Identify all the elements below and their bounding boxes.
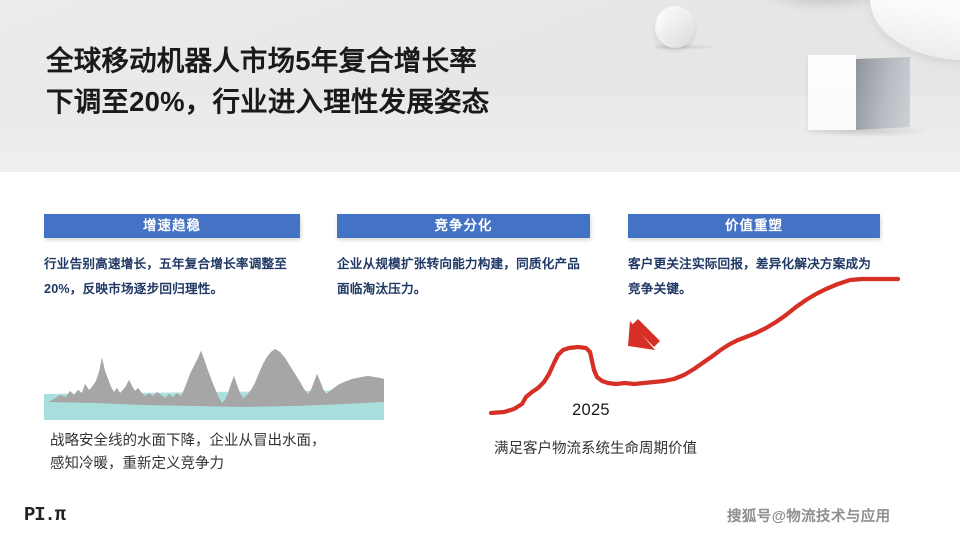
slide-canvas: 全球移动机器人市场5年复合增长率 下调至20%，行业进入理性发展姿态 增速趋稳 … [0,0,960,540]
brand-logo: PI.π [24,504,65,526]
cube-side-face [856,57,910,130]
mountain-silhouette-front [48,349,384,407]
card-banner-label: 增速趋稳 [44,214,300,238]
card-banner-label: 竞争分化 [337,214,590,238]
growth-curve-chart [470,262,920,432]
left-illustration-caption: 战略安全线的水面下降，企业从冒出水面， 感知冷暖，重新定义竞争力 [50,430,410,477]
card-body-text: 行业告别高速增长，五年复合增长率调整至20%，反映市场逐步回归理性。 [44,252,300,301]
info-card-growth: 增速趋稳 行业告别高速增长，五年复合增长率调整至20%，反映市场逐步回归理性。 [44,214,300,301]
dip-annotation-arrow [628,319,660,350]
header-band: 全球移动机器人市场5年复合增长率 下调至20%，行业进入理性发展姿态 [0,0,960,172]
page-title: 全球移动机器人市场5年复合增长率 下调至20%，行业进入理性发展姿态 [46,40,706,123]
right-chart-caption: 满足客户物流系统生命周期价值 [494,437,834,458]
mountain-waterline-illustration [44,346,384,428]
card-banner-label: 价值重塑 [628,214,880,238]
source-watermark: 搜狐号@物流技术与应用 [727,505,891,526]
growth-curve-line [491,279,898,413]
cube-shape [808,55,856,130]
cone-shape [870,0,960,60]
chart-year-label: 2025 [572,401,610,420]
